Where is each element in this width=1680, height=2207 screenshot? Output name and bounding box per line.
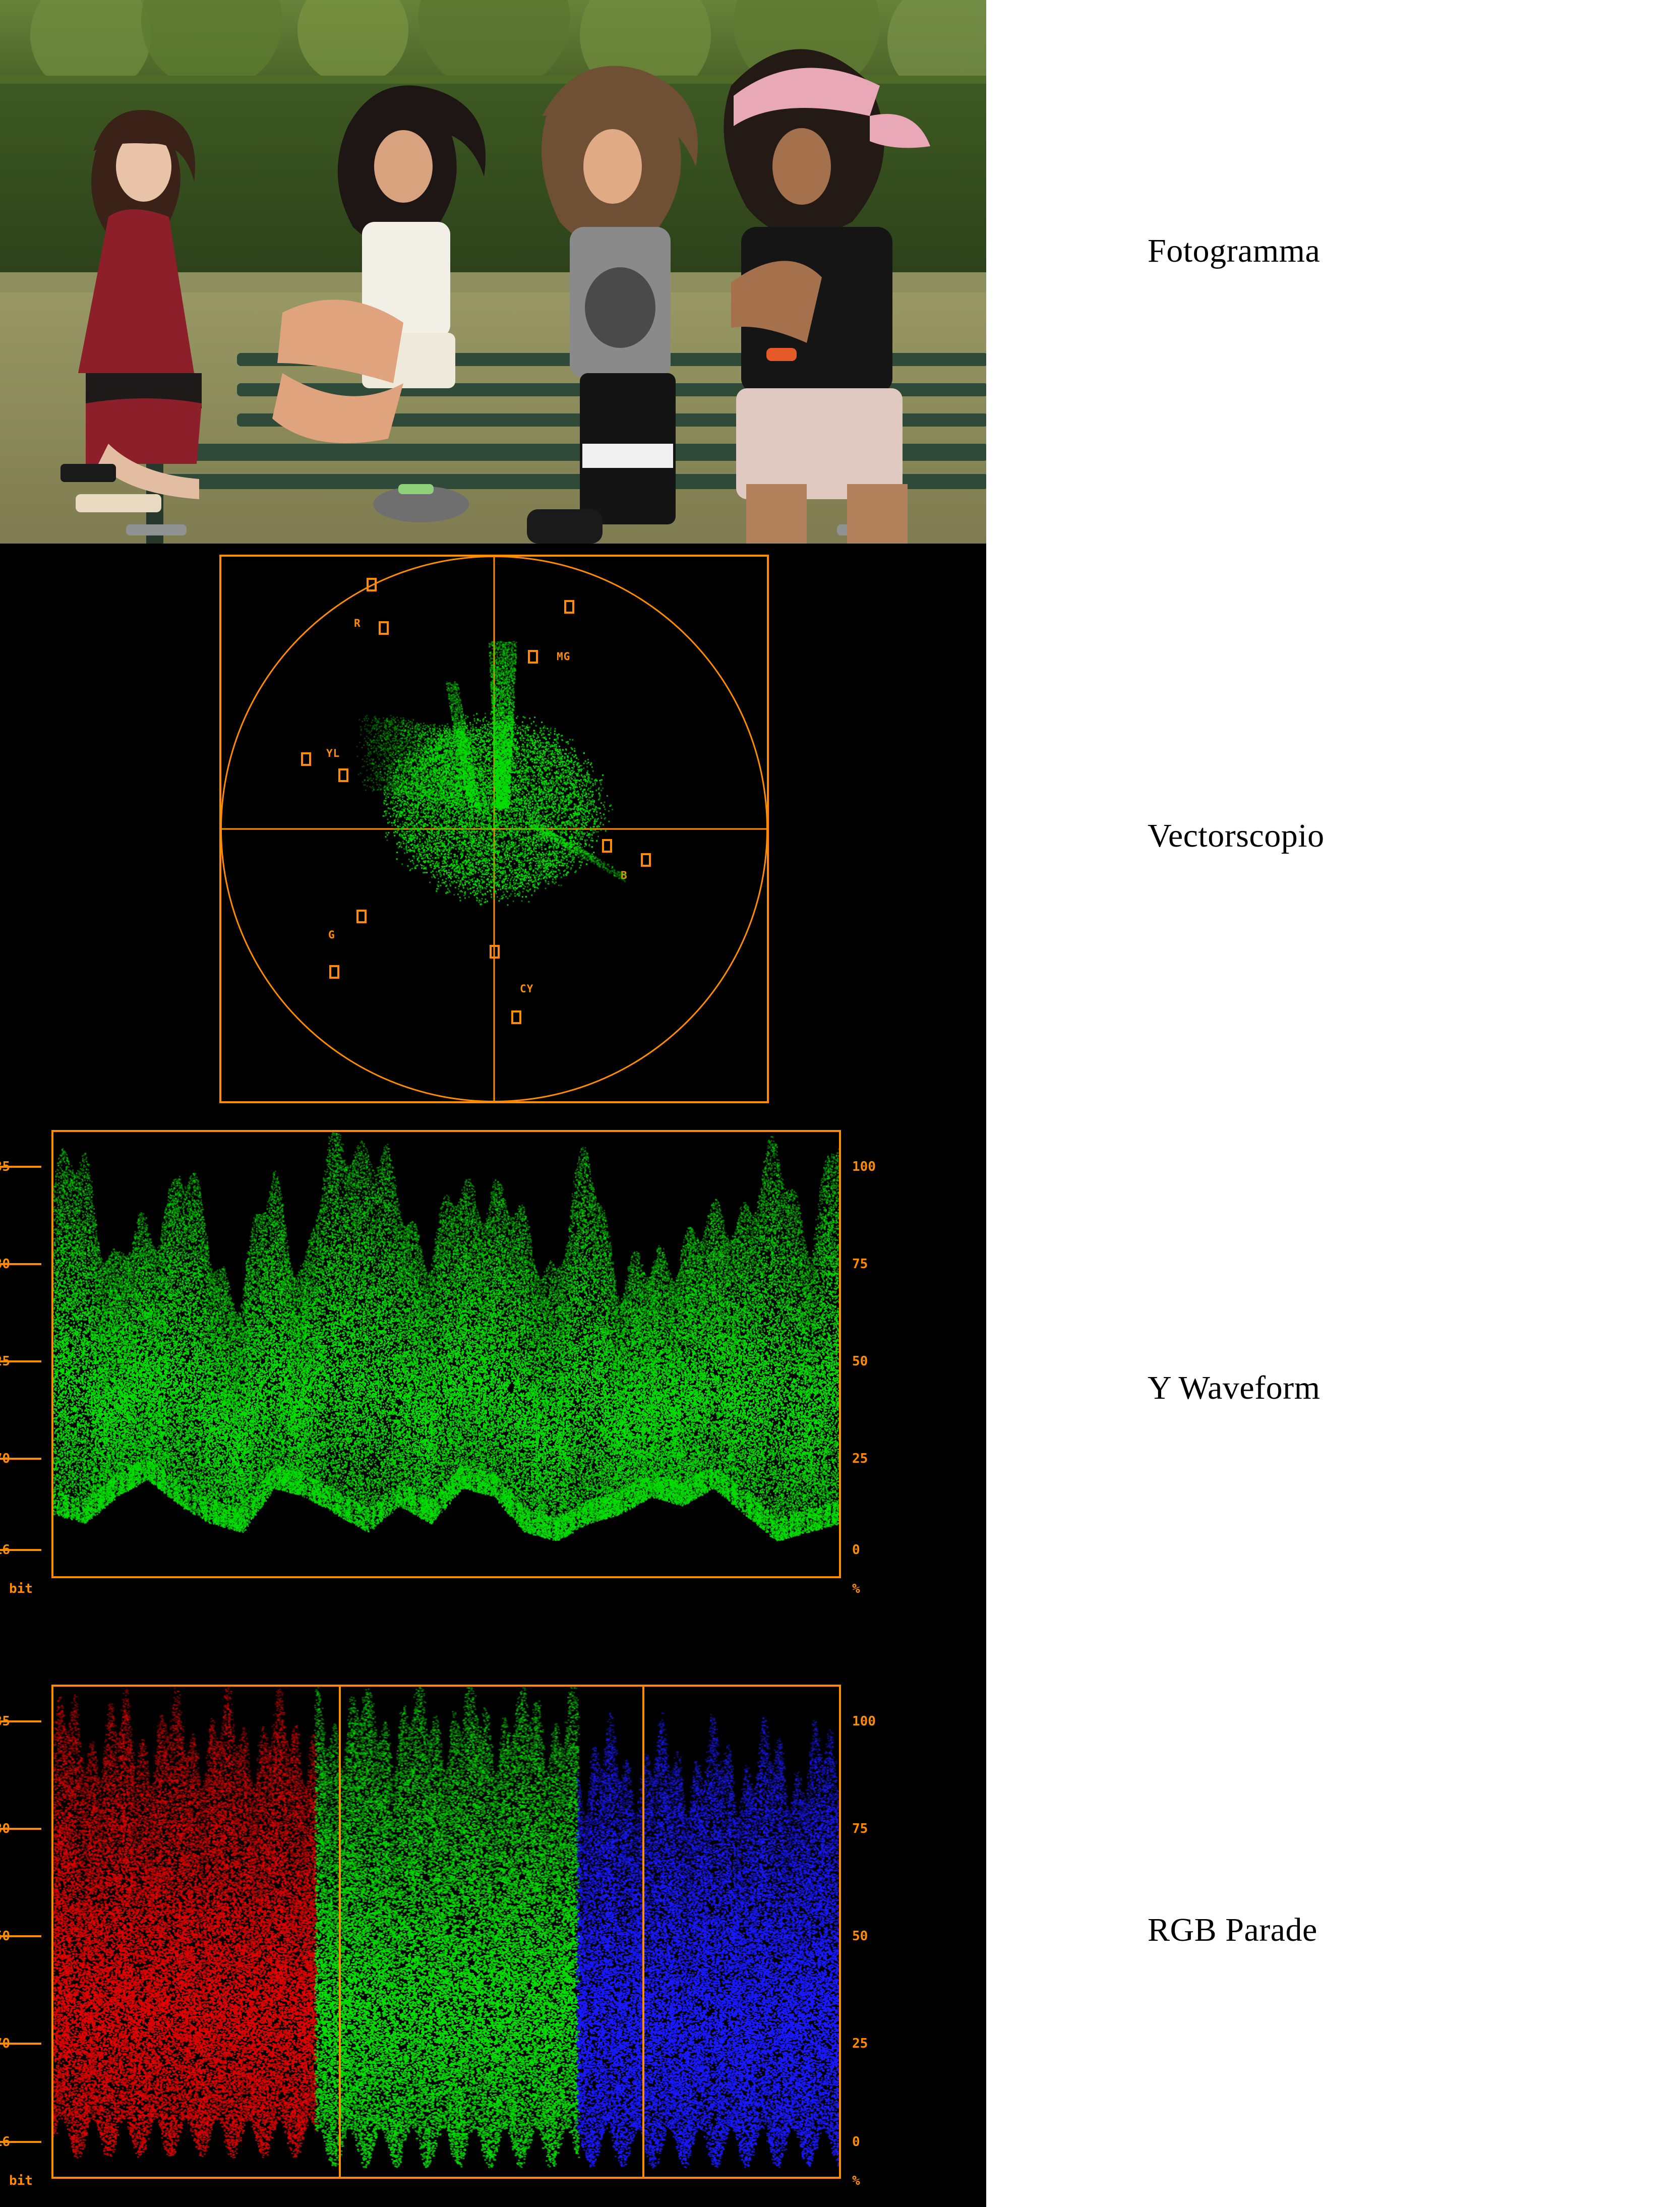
vectorscope-graticule: R MG B CY G YL: [219, 555, 769, 1103]
yw-tick-label-100pct: 100: [852, 1159, 923, 1174]
rgb-tick-label-100pct: 100: [852, 1714, 923, 1729]
y-waveform-panel: 235 180 125 70 16 bit 100 75 50 25 0 %: [0, 1113, 986, 1658]
rgb-tick-label-235: 235: [0, 1714, 10, 1729]
rgb-tick-label-50pct: 50: [852, 1929, 923, 1944]
label-vectorscopio: Vectorscopio: [986, 817, 1680, 855]
y-waveform-trace: [53, 1132, 839, 1576]
rgb-tick-label-16: 16: [0, 2134, 10, 2150]
rgb-parade-green-channel: [314, 1687, 580, 2168]
labels-column: Fotogramma Vectorscopio Y Waveform RGB P…: [986, 0, 1680, 2207]
rgb-tick-label-25pct: 25: [852, 2036, 923, 2051]
yw-tick-label-16: 16: [0, 1542, 10, 1558]
yw-tick-label-125: 125: [0, 1354, 10, 1369]
rgb-parade-panel: 235 180 50 70 16 bit 100 75 50 25 0 %: [0, 1658, 986, 2207]
label-rgb-parade: RGB Parade: [986, 1911, 1680, 1949]
yw-unit-label-percent: %: [852, 1581, 860, 1596]
rgb-unit-label-percent: %: [852, 2173, 860, 2188]
rgb-parade-red-channel: [53, 1687, 319, 2158]
y-waveform-graticule: [51, 1130, 841, 1578]
yw-tick-label-50pct: 50: [852, 1354, 923, 1369]
yw-tick-label-75pct: 75: [852, 1257, 923, 1272]
rgb-unit-label-bit: bit: [9, 2173, 33, 2188]
rgb-tick-label-0pct: 0: [852, 2134, 923, 2150]
rgb-parade-blue-channel: [576, 1712, 839, 2168]
rgb-parade-graticule: [51, 1685, 841, 2179]
yw-tick-label-25pct: 25: [852, 1451, 923, 1466]
scopes-column: R MG B CY G YL: [0, 0, 986, 2207]
label-fotogramma: Fotogramma: [986, 232, 1680, 270]
video-frame-photo: [0, 0, 986, 544]
rgb-parade-trace: [53, 1687, 839, 2177]
rgb-parade-separator-rg: [339, 1687, 341, 2177]
rgb-tick-label-70: 70: [0, 2036, 10, 2051]
frame-photo-illustration: [0, 0, 986, 544]
yw-tick-label-70: 70: [0, 1451, 10, 1466]
yw-tick-label-0pct: 0: [852, 1542, 923, 1558]
yw-unit-label-bit: bit: [9, 1581, 33, 1596]
rgb-tick-label-50: 50: [0, 1929, 10, 1944]
label-y-waveform: Y Waveform: [986, 1369, 1680, 1407]
rgb-tick-label-75pct: 75: [852, 1821, 923, 1836]
vectorscope-trace: [221, 557, 767, 1101]
rgb-tick-label-180: 180: [0, 1821, 10, 1836]
vectorscope-panel: R MG B CY G YL: [0, 544, 986, 1113]
yw-tick-label-180: 180: [0, 1257, 10, 1272]
rgb-parade-separator-gb: [642, 1687, 644, 2177]
yw-tick-label-235: 235: [0, 1159, 10, 1174]
